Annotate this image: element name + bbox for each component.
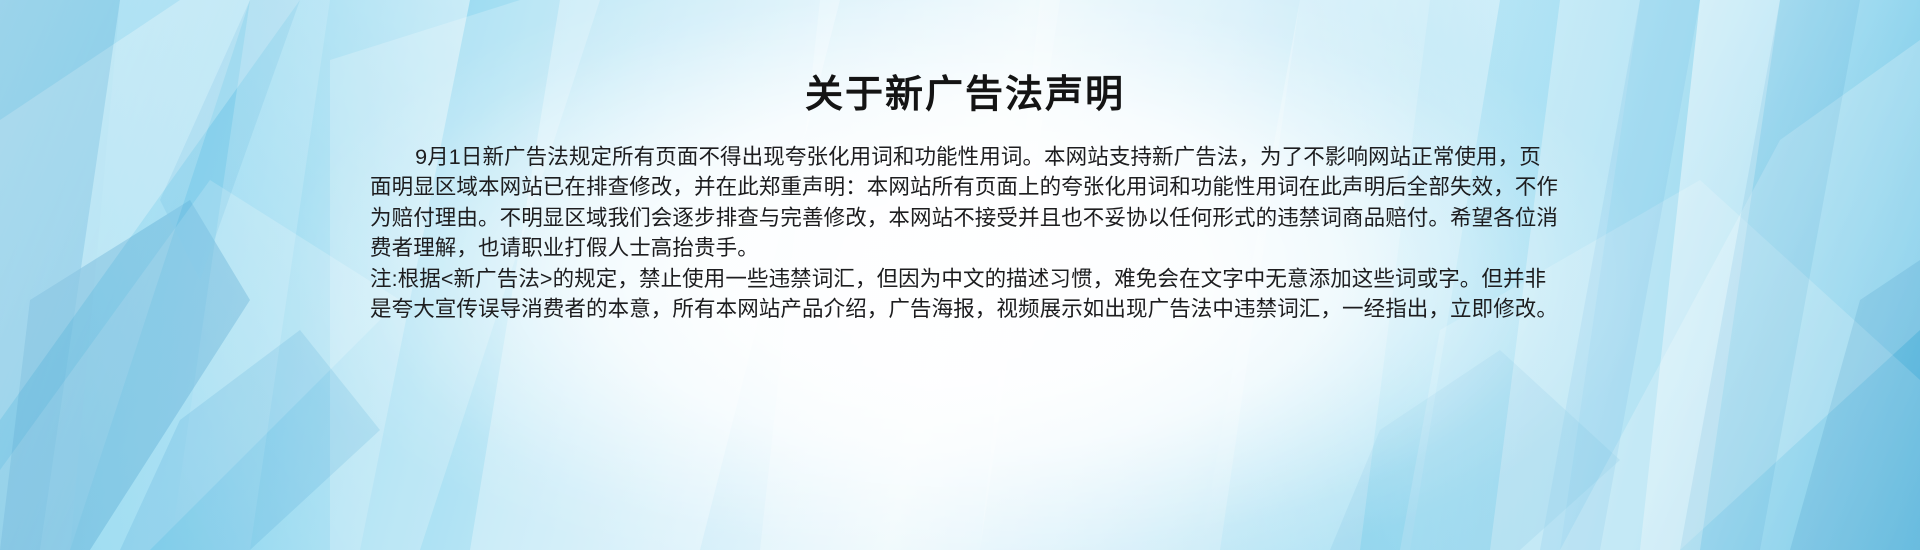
statement-content: 关于新广告法声明 9月1日新广告法规定所有页面不得出现夸张化用词和功能性用词。本… bbox=[370, 72, 1560, 325]
advertising-law-statement-banner: 关于新广告法声明 9月1日新广告法规定所有页面不得出现夸张化用词和功能性用词。本… bbox=[0, 0, 1920, 550]
page-title: 关于新广告法声明 bbox=[370, 72, 1560, 120]
statement-paragraph-note: 注:根据<新广告法>的规定，禁止使用一些违禁词汇，但因为中文的描述习惯，难免会在… bbox=[370, 264, 1560, 325]
statement-paragraph-main: 9月1日新广告法规定所有页面不得出现夸张化用词和功能性用词。本网站支持新广告法，… bbox=[370, 142, 1560, 264]
